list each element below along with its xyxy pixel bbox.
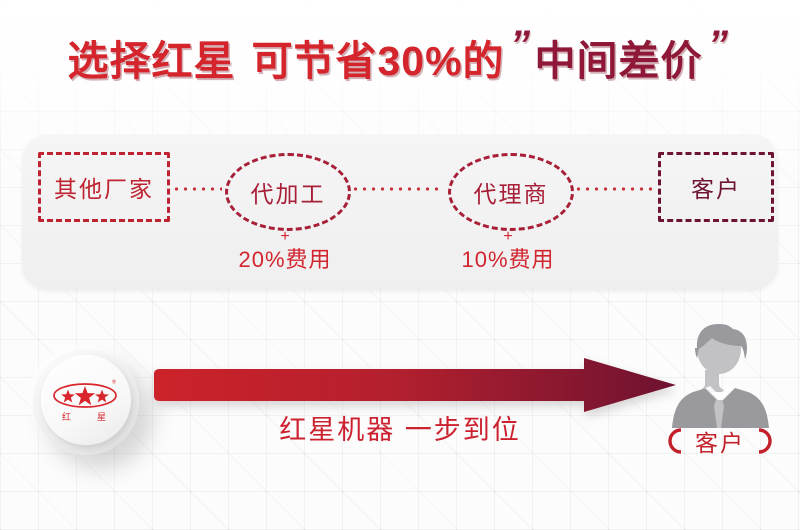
fee-plus-sign: + — [195, 228, 375, 246]
headline-part-1: 选择红星 — [67, 27, 235, 87]
flow-node-other-factory: 其他厂家 — [38, 152, 170, 222]
fee-amount: 20%费用 — [195, 246, 375, 274]
brand-logo-disc: ® 红 星 — [41, 355, 131, 445]
flow-connector-1 — [172, 187, 222, 191]
middleman-flow-panel: 其他厂家 代加工 代理商 客户 + 20%费用 + 10%费用 — [22, 133, 778, 290]
fee-subcontractor: + 20%费用 — [195, 228, 375, 274]
flow-connector-3 — [574, 187, 656, 191]
quote-open-icon: ” — [500, 25, 539, 65]
flow-node-agent-label: 代理商 — [474, 175, 549, 209]
quote-close-icon: ” — [698, 25, 737, 65]
flow-node-customer-label: 客户 — [691, 170, 741, 204]
bracket-left-icon — [668, 427, 683, 455]
bracket-right-icon — [757, 427, 772, 455]
customer-tag-label: 客户 — [683, 424, 757, 458]
svg-text:®: ® — [112, 379, 116, 386]
svg-text:红: 红 — [62, 411, 71, 422]
page-title: 选择红星 可节省30%的 ” 中间差价 ” — [0, 26, 800, 88]
flow-connector-2 — [351, 187, 444, 191]
flow-node-customer: 客户 — [658, 152, 774, 222]
svg-text:星: 星 — [97, 412, 106, 422]
progress-arrow-icon — [148, 358, 678, 412]
businessman-silhouette-icon — [663, 320, 775, 428]
fee-amount: 10%费用 — [418, 246, 598, 274]
flow-node-agent: 代理商 — [448, 153, 574, 231]
flow-node-subcontractor-label: 代加工 — [251, 175, 326, 209]
red-star-logo-icon: ® 红 星 — [51, 379, 121, 423]
arrow-caption: 红星机器 一步到位 — [200, 408, 600, 447]
fee-plus-sign: + — [418, 228, 598, 246]
customer-tag: 客户 — [645, 424, 795, 458]
flow-node-other-factory-label: 其他厂家 — [54, 170, 154, 204]
headline-emphasis: 中间差价 — [535, 27, 703, 87]
flow-node-subcontractor: 代加工 — [225, 153, 351, 231]
brand-logo-badge: ® 红 星 — [33, 349, 139, 455]
headline-part-2: 可节省30%的 — [251, 27, 504, 87]
poster-canvas: 选择红星 可节省30%的 ” 中间差价 ” 其他厂家 代加工 代理商 客户 + … — [0, 0, 800, 530]
fee-agent: + 10%费用 — [418, 228, 598, 274]
